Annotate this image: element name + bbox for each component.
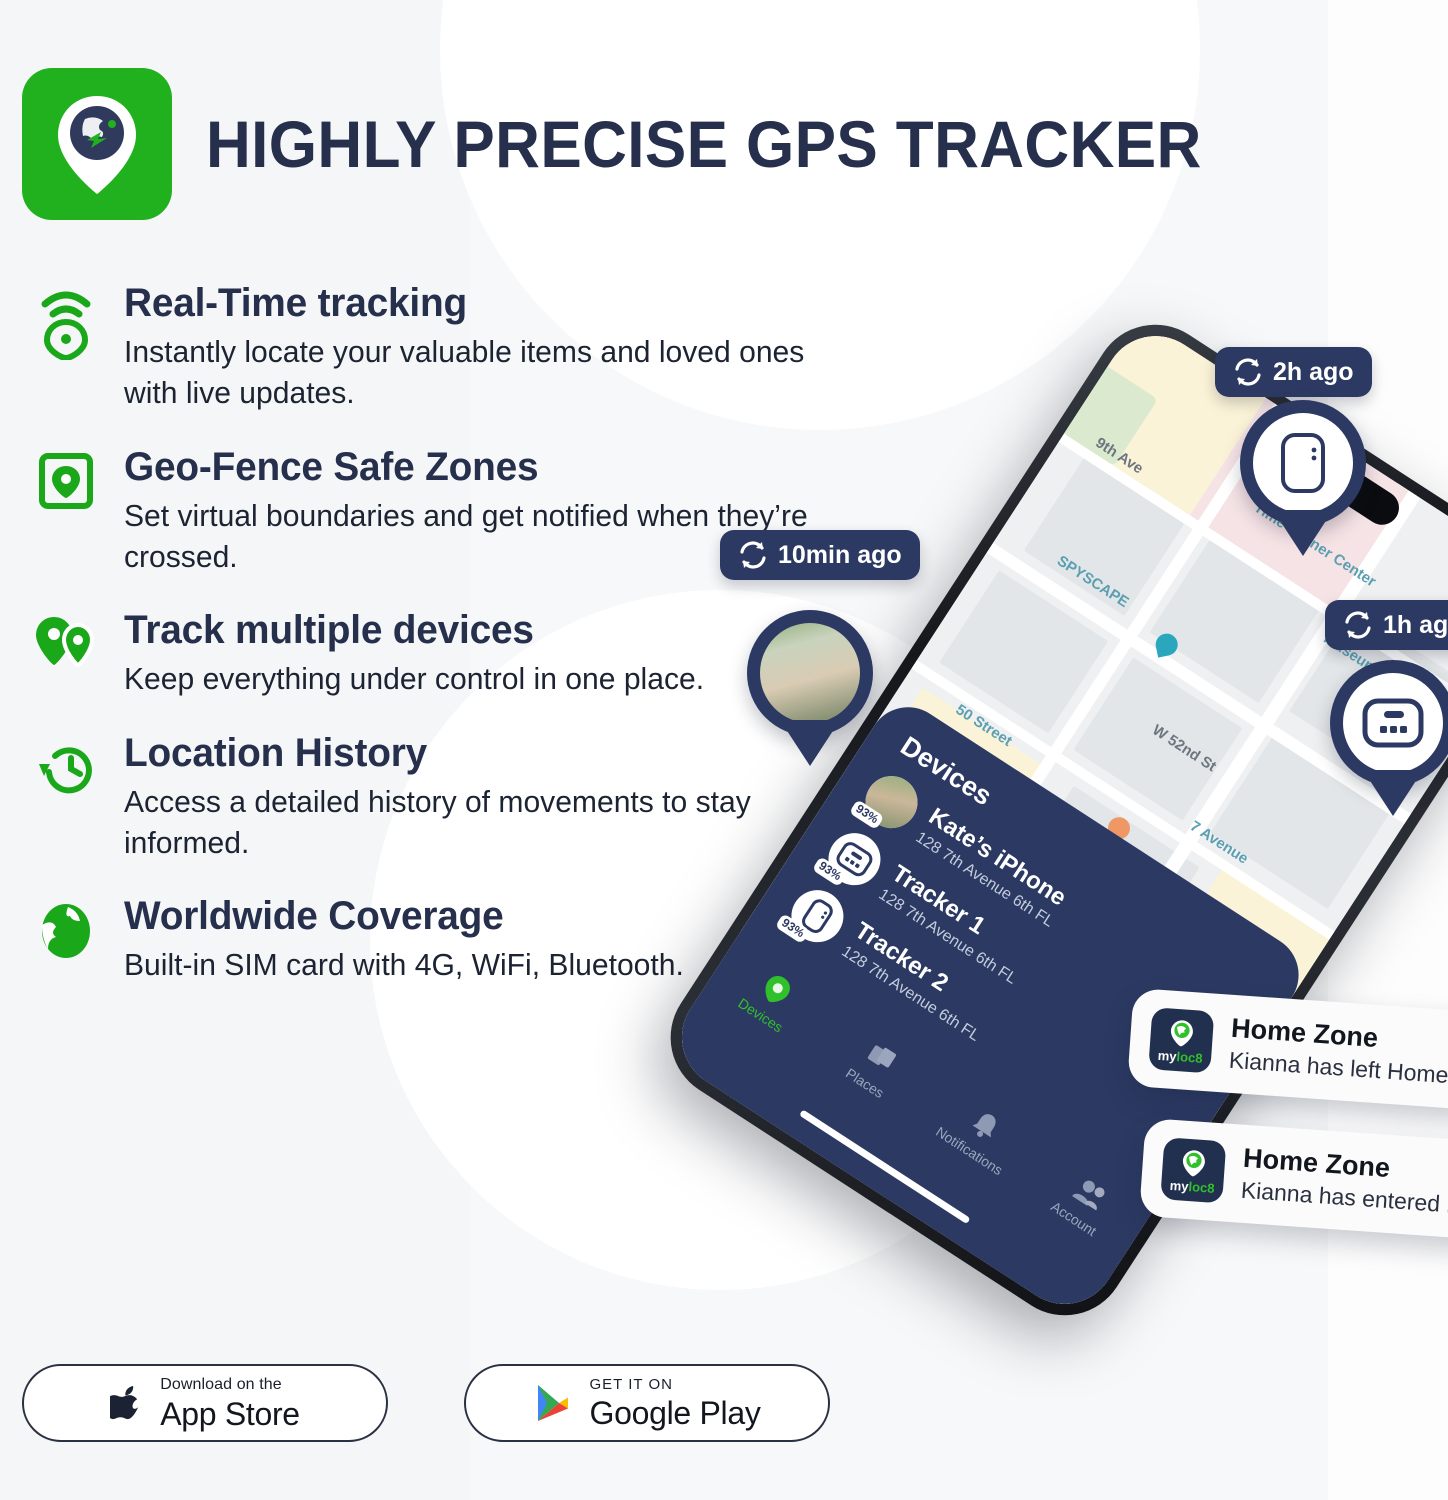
toast-text: Home Zone Kianna has left Home — [1228, 1014, 1448, 1088]
pin-tail — [1363, 770, 1423, 816]
sync-icon — [1343, 610, 1373, 640]
toast-text: Home Zone Kianna has entered H — [1240, 1144, 1448, 1219]
geofence-square-pin-icon — [38, 452, 94, 510]
globe-icon — [38, 901, 94, 961]
feature-icon-wrap — [34, 446, 98, 578]
app-icon: myloc8 — [1160, 1137, 1226, 1203]
sync-icon — [1233, 357, 1263, 387]
pin-inner — [1253, 413, 1353, 513]
pin-circle — [1240, 400, 1366, 526]
notification-toast[interactable]: myloc8 Home Zone Kianna has entered H — [1139, 1118, 1448, 1240]
phone-scene: 9:41 Time Warner Center 9th Ave Museum o… — [730, 330, 1448, 1350]
pin-inner — [760, 623, 860, 723]
map-pin-person[interactable] — [747, 610, 873, 764]
pin-circle — [1330, 660, 1448, 786]
google-play-big-label: Google Play — [589, 1397, 760, 1429]
google-play-button[interactable]: GET IT ON Google Play — [464, 1364, 830, 1442]
avatar-photo — [856, 766, 928, 838]
pin-time-label: 10min ago — [778, 541, 902, 570]
promo-banner: HIGHLY PRECISE GPS TRACKER Real-Time tra… — [0, 0, 1448, 1500]
app-store-big-label: App Store — [160, 1398, 300, 1430]
app-icon: myloc8 — [1148, 1007, 1214, 1073]
page-title: HIGHLY PRECISE GPS TRACKER — [206, 111, 1202, 177]
app-logo — [22, 68, 172, 220]
map-pin-globe-logo-icon — [1166, 1017, 1198, 1049]
google-play-labels: GET IT ON Google Play — [589, 1377, 760, 1429]
app-brand-label: myloc8 — [1157, 1048, 1203, 1064]
tag-tracker-icon-wrap: 93% — [781, 880, 853, 952]
pin-inner — [1343, 673, 1443, 773]
tab-places[interactable]: Places — [815, 1014, 937, 1120]
apple-icon — [110, 1383, 144, 1423]
clock-history-icon — [35, 738, 97, 796]
tab-devices[interactable]: Devices — [710, 946, 832, 1052]
map-pin-globe-logo-icon — [1178, 1147, 1210, 1179]
pin-time-label: 1h ago — [1383, 611, 1448, 640]
google-play-icon — [533, 1382, 573, 1424]
pin-time-badge: 10min ago — [720, 530, 920, 580]
sync-icon — [738, 540, 768, 570]
app-store-small-label: Download on the — [160, 1377, 300, 1393]
app-store-labels: Download on the App Store — [160, 1377, 300, 1430]
pin-time-label: 2h ago — [1273, 358, 1354, 387]
tab-notifications[interactable]: Notifications — [919, 1081, 1041, 1187]
pin-time-badge: 2h ago — [1215, 347, 1372, 397]
pin-time-badge: 1h ago — [1325, 600, 1448, 650]
pin-circle — [747, 610, 873, 736]
phone-tracker-icon — [1280, 432, 1326, 494]
person-avatar: 93% — [856, 766, 928, 838]
person-photo — [760, 623, 860, 723]
feature-icon-wrap — [34, 609, 98, 699]
tracker-device-icon-wrap: 93% — [818, 823, 890, 895]
app-brand-label: myloc8 — [1169, 1178, 1215, 1194]
feature-title: Real-Time tracking — [124, 282, 842, 325]
tracker-device-icon — [1362, 698, 1424, 748]
app-store-button[interactable]: Download on the App Store — [22, 1364, 388, 1442]
pin-tail — [780, 720, 840, 766]
header: HIGHLY PRECISE GPS TRACKER — [22, 68, 1265, 220]
map-pin-tracker[interactable] — [1240, 400, 1366, 554]
store-badges: Download on the App Store GET IT ON Goog… — [22, 1364, 830, 1442]
map-pin-globe-logo-icon — [42, 88, 152, 200]
tab-account[interactable]: Account — [1023, 1149, 1145, 1255]
pin-tail — [1273, 510, 1333, 556]
map-pin-device[interactable] — [1330, 660, 1448, 814]
realtime-signal-pin-icon — [39, 288, 93, 360]
feature-icon-wrap — [34, 282, 98, 414]
google-play-small-label: GET IT ON — [589, 1377, 760, 1392]
feature-icon-wrap — [34, 732, 98, 864]
feature-icon-wrap — [34, 895, 98, 985]
multi-pin-icon — [34, 615, 98, 671]
